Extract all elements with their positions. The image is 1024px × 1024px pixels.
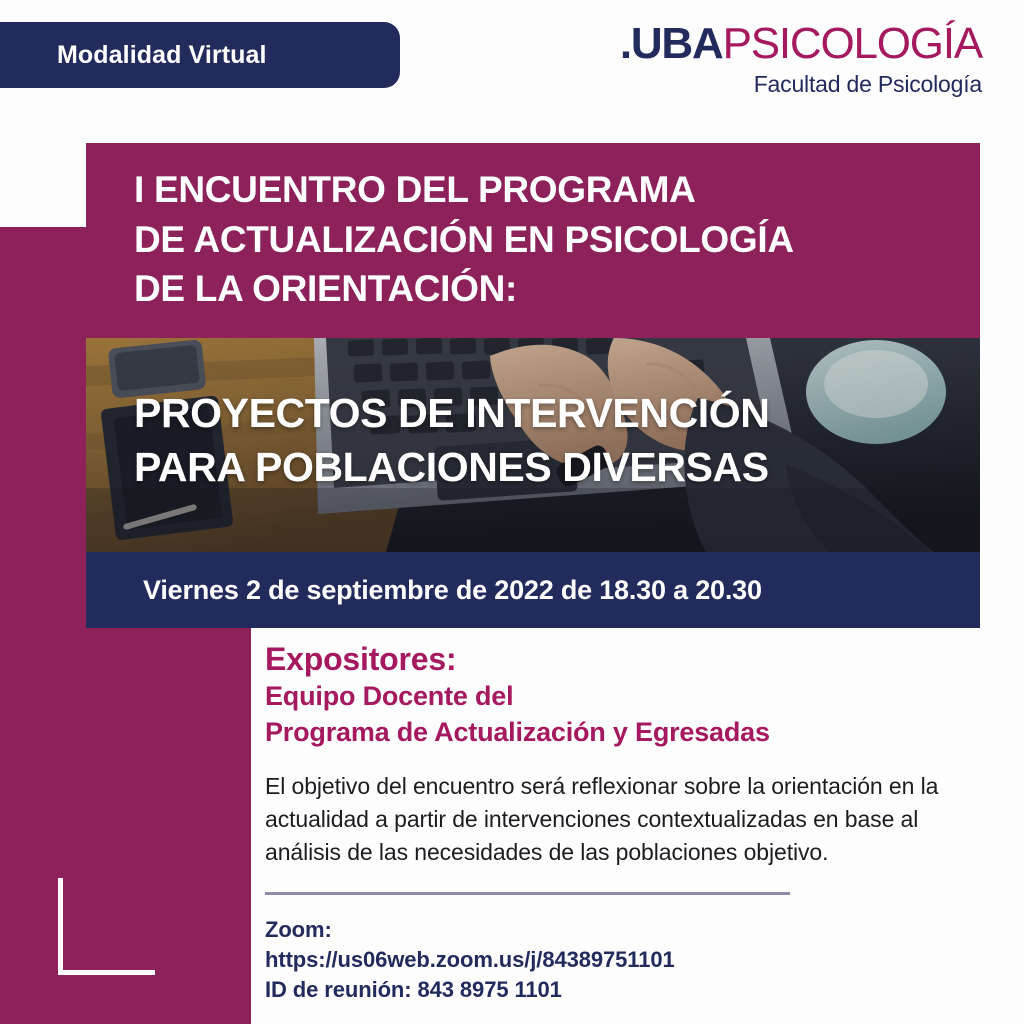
modality-badge-label: Modalidad Virtual: [0, 41, 267, 70]
uba-psicologia-logo: .UBAPSICOLOGÍA Facultad de Psicología: [620, 22, 982, 96]
hero-photo-band: PROYECTOS DE INTERVENCIÓN PARA POBLACION…: [86, 338, 980, 552]
zoom-access-block: Zoom: https://us06web.zoom.us/j/84389751…: [265, 915, 995, 1005]
logo-faculty-text: Facultad de Psicología: [620, 73, 982, 96]
event-poster: Modalidad Virtual .UBAPSICOLOGÍA Faculta…: [0, 0, 1024, 1024]
event-title-line-3: DE LA ORIENTACIÓN:: [134, 264, 968, 314]
logo-wordmark: .UBAPSICOLOGÍA: [620, 22, 982, 66]
section-divider: [265, 892, 790, 895]
event-subtitle: PROYECTOS DE INTERVENCIÓN PARA POBLACION…: [134, 386, 970, 494]
event-title-line-2: DE ACTUALIZACIÓN EN PSICOLOGÍA: [134, 215, 968, 265]
zoom-label: Zoom:: [265, 915, 995, 945]
date-banner: Viernes 2 de septiembre de 2022 de 18.30…: [86, 552, 980, 628]
logo-uba-text: .UBA: [620, 19, 723, 68]
details-section: Expositores: Equipo Docente del Programa…: [265, 640, 995, 1005]
objective-paragraph: El objetivo del encuentro será reflexion…: [265, 770, 985, 868]
event-subtitle-line-1: PROYECTOS DE INTERVENCIÓN: [134, 386, 970, 440]
speakers-line-2: Programa de Actualización y Egresadas: [265, 715, 995, 751]
logo-psicologia-text: PSICOLOGÍA: [723, 19, 982, 68]
event-title: I ENCUENTRO DEL PROGRAMA DE ACTUALIZACIÓ…: [134, 165, 968, 314]
title-banner: I ENCUENTRO DEL PROGRAMA DE ACTUALIZACIÓ…: [86, 143, 980, 338]
event-subtitle-line-2: PARA POBLACIONES DIVERSAS: [134, 440, 970, 494]
speakers-heading: Expositores:: [265, 640, 995, 679]
event-date-time: Viernes 2 de septiembre de 2022 de 18.30…: [86, 575, 762, 606]
modality-badge: Modalidad Virtual: [0, 22, 400, 88]
speakers-line-1: Equipo Docente del: [265, 679, 995, 715]
event-title-line-1: I ENCUENTRO DEL PROGRAMA: [134, 165, 968, 215]
zoom-link[interactable]: https://us06web.zoom.us/j/84389751101: [265, 945, 995, 975]
corner-bracket-decoration: [58, 878, 155, 975]
zoom-meeting-id: ID de reunión: 843 8975 1101: [265, 975, 995, 1005]
